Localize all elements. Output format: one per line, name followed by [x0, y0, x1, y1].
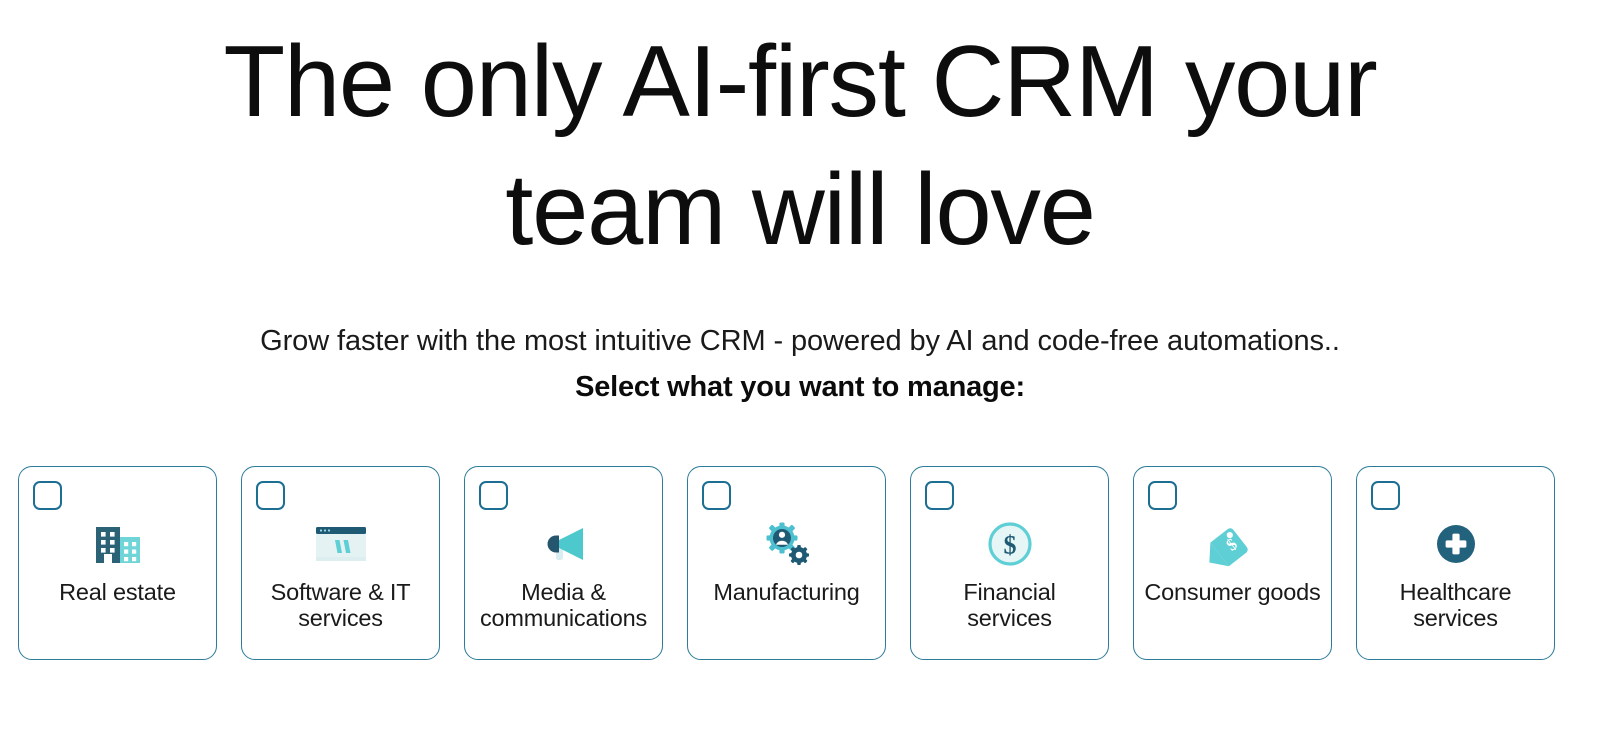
checkbox-media-communications[interactable] — [479, 481, 508, 510]
checkbox-real-estate[interactable] — [33, 481, 62, 510]
building-icon — [19, 515, 216, 573]
select-prompt-text: Select what you want to manage: — [0, 368, 1600, 406]
svg-text:$: $ — [1003, 531, 1016, 560]
industry-card-financial-services[interactable]: $ Financial services — [910, 466, 1109, 660]
checkbox-software-it-services[interactable] — [256, 481, 285, 510]
industry-card-software-it-services[interactable]: Software & IT services — [241, 466, 440, 660]
browser-window-icon — [242, 515, 439, 573]
subcopy: Grow faster with the most intuitive CRM … — [0, 322, 1600, 406]
checkbox-financial-services[interactable] — [925, 481, 954, 510]
industry-card-healthcare-services[interactable]: Healthcare services — [1356, 466, 1555, 660]
checkbox-manufacturing[interactable] — [702, 481, 731, 510]
industry-card-label: Financial services — [919, 579, 1100, 631]
industry-card-label: Consumer goods — [1142, 579, 1323, 605]
checkbox-healthcare-services[interactable] — [1371, 481, 1400, 510]
industry-card-real-estate[interactable]: Real estate — [18, 466, 217, 660]
headline-line-1: The only AI-first CRM your — [130, 18, 1470, 146]
industry-card-label: Manufacturing — [696, 579, 877, 605]
subtitle-text: Grow faster with the most intuitive CRM … — [0, 322, 1600, 360]
headline-line-2: team will love — [130, 146, 1470, 274]
page-title: The only AI-first CRM your team will lov… — [130, 0, 1470, 274]
dollar-coin-icon: $ — [911, 515, 1108, 573]
industry-card-label: Media & communications — [473, 579, 654, 631]
medical-plus-icon — [1357, 515, 1554, 573]
landing-hero-page: The only AI-first CRM your team will lov… — [0, 0, 1600, 755]
checkbox-consumer-goods[interactable] — [1148, 481, 1177, 510]
industry-card-row: Real estate Software & — [18, 466, 1600, 660]
price-tag-icon: $ — [1134, 515, 1331, 573]
industry-card-consumer-goods[interactable]: $ Consumer goods — [1133, 466, 1332, 660]
megaphone-icon — [465, 515, 662, 573]
industry-card-manufacturing[interactable]: Manufacturing — [687, 466, 886, 660]
industry-card-media-communications[interactable]: Media & communications — [464, 466, 663, 660]
gears-person-icon — [688, 515, 885, 573]
industry-card-label: Healthcare services — [1365, 579, 1546, 631]
industry-card-label: Software & IT services — [250, 579, 431, 631]
industry-card-label: Real estate — [27, 579, 208, 605]
